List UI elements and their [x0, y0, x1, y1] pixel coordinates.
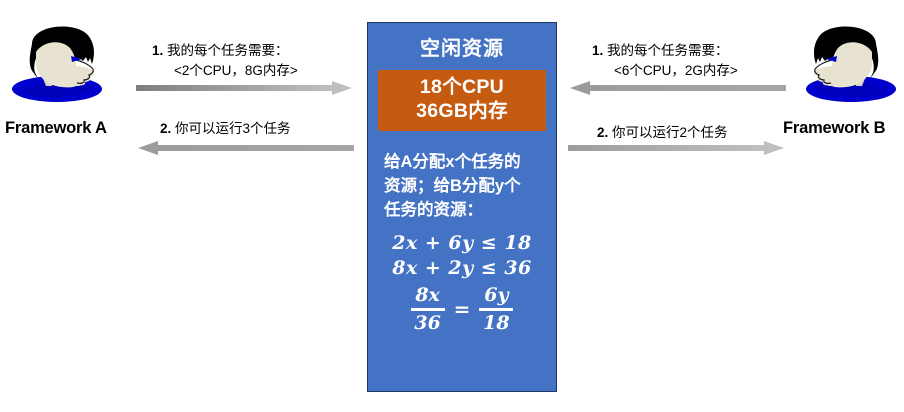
right-request-line2: <6个CPU，2G内存> — [592, 61, 738, 81]
left-request-line2: <2个CPU，8G内存> — [152, 61, 298, 81]
left-request-line1: 我的每个任务需要： — [167, 43, 289, 58]
fraction-left-bar — [411, 308, 445, 311]
fraction-right-denominator: 18 — [480, 313, 512, 334]
fraction-left: 8x 36 — [411, 285, 445, 334]
left-reply-message: 2. 你可以运行3个任务 — [160, 119, 291, 139]
equation-fraction: 8x 36 = 6y 18 — [368, 285, 556, 334]
arrow-center-to-left — [136, 140, 354, 161]
fraction-right-bar — [479, 308, 513, 311]
equation-1: 2x + 6y ≤ 18 — [368, 231, 556, 257]
arrow-center-to-right — [568, 140, 786, 161]
equation-2: 8x + 2y ≤ 36 — [368, 256, 556, 282]
avatar-framework-a — [2, 14, 132, 124]
available-resources-band: 18个CPU 36GB内存 — [378, 70, 546, 131]
panel-title: 空闲资源 — [368, 32, 556, 61]
arrow-right-to-center — [568, 80, 786, 101]
arrow-left-to-center — [136, 80, 354, 101]
diagram-canvas: Framework A Framework B 1. 我的每个任务需要： <2个… — [0, 0, 904, 412]
constraint-equations: 2x + 6y ≤ 18 8x + 2y ≤ 36 8x 36 = 6y 18 — [368, 231, 556, 334]
person-profile-icon — [2, 14, 132, 124]
left-request-number: 1. — [152, 43, 163, 58]
person-profile-icon — [776, 14, 904, 124]
fraction-left-numerator: 8x — [412, 285, 443, 306]
right-request-message: 1. 我的每个任务需要： <6个CPU，2G内存> — [592, 41, 738, 80]
allocation-description: 给A分配x个任务的资源；给B分配y个任务的资源： — [384, 151, 534, 223]
resource-memory-value: 36GB内存 — [378, 99, 546, 123]
equals-sign: = — [454, 297, 471, 321]
resource-cpu-value: 18个CPU — [378, 75, 546, 99]
fraction-right-numerator: 6y — [481, 285, 511, 306]
free-resources-panel: 空闲资源 18个CPU 36GB内存 给A分配x个任务的资源；给B分配y个任务的… — [367, 22, 557, 392]
right-reply-line1: 你可以运行2个任务 — [612, 125, 728, 140]
left-reply-line1: 你可以运行3个任务 — [175, 121, 291, 136]
left-request-message: 1. 我的每个任务需要： <2个CPU，8G内存> — [152, 41, 298, 80]
fraction-right: 6y 18 — [479, 285, 513, 334]
right-reply-number: 2. — [597, 125, 608, 140]
fraction-left-denominator: 36 — [411, 313, 443, 334]
left-reply-number: 2. — [160, 121, 171, 136]
framework-b-label: Framework B — [783, 119, 885, 138]
avatar-framework-b — [776, 14, 904, 124]
right-request-line1: 我的每个任务需要： — [607, 43, 729, 58]
framework-a-label: Framework A — [5, 119, 107, 138]
right-request-number: 1. — [592, 43, 603, 58]
